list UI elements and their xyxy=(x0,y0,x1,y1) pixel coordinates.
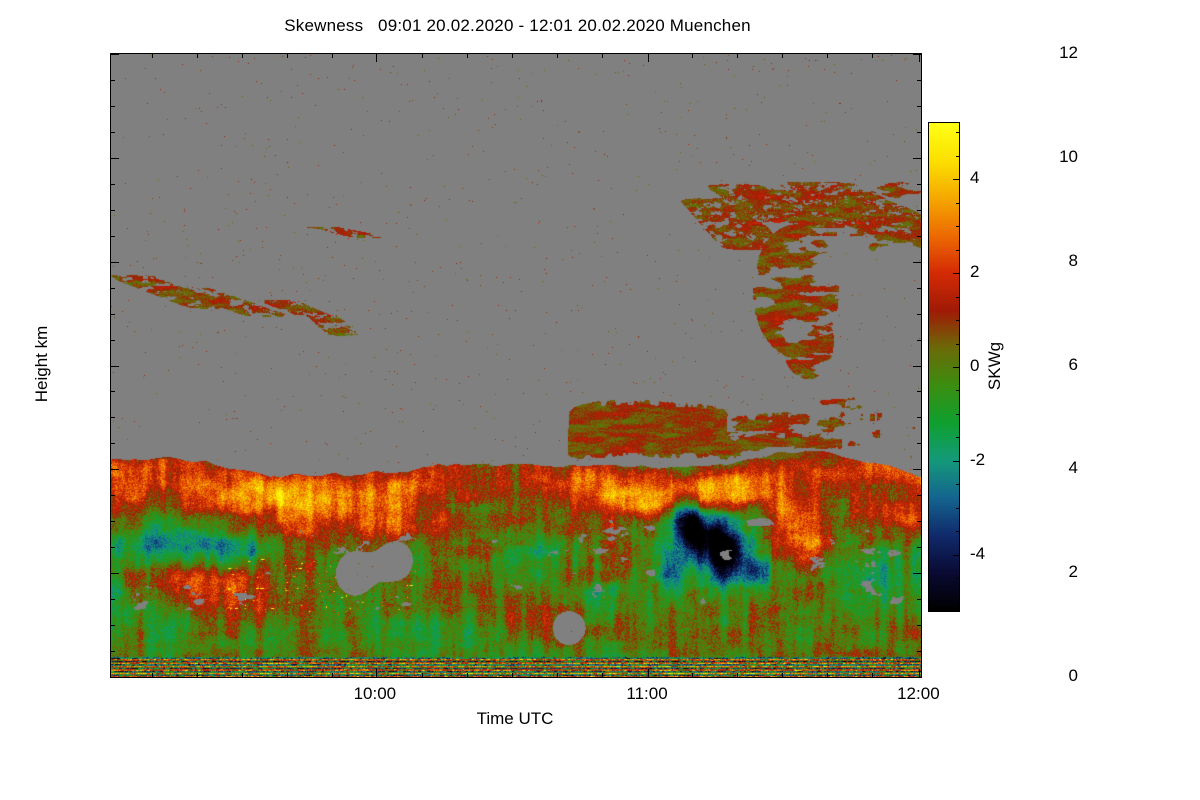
x-axis-minor-tick xyxy=(692,673,693,678)
y-axis-major-tick xyxy=(110,262,119,263)
x-axis-minor-tick xyxy=(287,673,288,678)
y-axis-minor-tick xyxy=(110,132,115,133)
y-axis-minor-tick xyxy=(917,521,922,522)
y-axis-title: Height km xyxy=(32,326,52,403)
x-axis-minor-tick xyxy=(197,53,198,58)
x-axis-minor-tick xyxy=(872,673,873,678)
y-axis-minor-tick xyxy=(917,184,922,185)
x-axis-minor-tick xyxy=(332,53,333,58)
colorbar-tick-label: -4 xyxy=(970,544,985,564)
colorbar-minor-tick xyxy=(956,390,960,391)
x-axis-minor-tick xyxy=(557,53,558,58)
colorbar-minor-tick xyxy=(956,297,960,298)
skewness-plot-page: Skewness 09:01 20.02.2020 - 12:01 20.02.… xyxy=(0,0,1200,800)
y-axis-minor-tick xyxy=(917,236,922,237)
y-axis-tick-label: 8 xyxy=(1069,251,1078,271)
y-axis-minor-tick xyxy=(917,132,922,133)
x-axis-major-tick xyxy=(376,669,377,678)
x-axis-minor-tick xyxy=(332,673,333,678)
x-axis-major-tick xyxy=(648,53,649,62)
x-axis-minor-tick xyxy=(467,53,468,58)
x-axis-minor-tick xyxy=(512,673,513,678)
colorbar-minor-tick xyxy=(956,484,960,485)
y-axis-major-tick xyxy=(913,469,922,470)
x-axis-minor-tick xyxy=(737,673,738,678)
plot-area xyxy=(110,53,922,678)
y-axis-minor-tick xyxy=(110,236,115,237)
y-axis-minor-tick xyxy=(110,80,115,81)
x-axis-minor-tick xyxy=(872,53,873,58)
x-axis-minor-tick xyxy=(602,53,603,58)
page-title: Skewness 09:01 20.02.2020 - 12:01 20.02.… xyxy=(0,16,1035,36)
y-axis-tick-label: 10 xyxy=(1059,147,1078,167)
y-axis-minor-tick xyxy=(110,106,115,107)
colorbar-major-tick xyxy=(953,179,960,180)
y-axis-minor-tick xyxy=(917,288,922,289)
x-axis-tick-label: 11:00 xyxy=(626,684,667,704)
y-axis-major-tick xyxy=(110,158,119,159)
y-axis-major-tick xyxy=(913,677,922,678)
y-axis-minor-tick xyxy=(917,495,922,496)
y-axis-minor-tick xyxy=(917,340,922,341)
colorbar-minor-tick xyxy=(956,226,960,227)
y-axis-minor-tick xyxy=(110,210,115,211)
x-axis-major-tick xyxy=(919,53,920,62)
y-axis-major-tick xyxy=(110,366,119,367)
x-axis-minor-tick xyxy=(152,53,153,58)
colorbar-major-tick xyxy=(953,273,960,274)
x-axis-major-tick xyxy=(376,53,377,62)
y-axis-minor-tick xyxy=(110,651,115,652)
colorbar-major-tick xyxy=(953,461,960,462)
colorbar xyxy=(928,122,960,612)
x-axis-minor-tick xyxy=(557,673,558,678)
colorbar-tick-label: -2 xyxy=(970,450,985,470)
x-axis-title: Time UTC xyxy=(477,709,554,729)
y-axis-major-tick xyxy=(913,366,922,367)
y-axis-minor-tick xyxy=(917,210,922,211)
x-axis-major-tick xyxy=(648,669,649,678)
y-axis-minor-tick xyxy=(917,651,922,652)
y-axis-minor-tick xyxy=(110,391,115,392)
y-axis-minor-tick xyxy=(110,314,115,315)
skewness-heatmap-canvas xyxy=(111,54,921,677)
colorbar-major-tick xyxy=(953,367,960,368)
y-axis-minor-tick xyxy=(110,340,115,341)
x-axis-minor-tick xyxy=(692,53,693,58)
y-axis-minor-tick xyxy=(110,184,115,185)
colorbar-tick-label: 0 xyxy=(970,356,979,376)
colorbar-tick-label: 4 xyxy=(970,168,979,188)
colorbar-minor-tick xyxy=(956,578,960,579)
x-axis-tick-label: 12:00 xyxy=(897,684,940,704)
colorbar-minor-tick xyxy=(956,203,960,204)
y-axis-minor-tick xyxy=(110,599,115,600)
y-axis-tick-label: 4 xyxy=(1069,458,1078,478)
y-axis-minor-tick xyxy=(917,599,922,600)
y-axis-major-tick xyxy=(913,158,922,159)
colorbar-major-tick xyxy=(953,555,960,556)
x-axis-minor-tick xyxy=(242,673,243,678)
y-axis-minor-tick xyxy=(917,625,922,626)
colorbar-minor-tick xyxy=(956,414,960,415)
y-axis-minor-tick xyxy=(917,391,922,392)
colorbar-title: SKWg xyxy=(985,342,1005,390)
y-axis-major-tick xyxy=(913,54,922,55)
y-axis-minor-tick xyxy=(110,288,115,289)
x-axis-minor-tick xyxy=(737,53,738,58)
x-axis-tick-label: 10:00 xyxy=(354,684,397,704)
x-axis-minor-tick xyxy=(782,53,783,58)
y-axis-minor-tick xyxy=(110,417,115,418)
colorbar-minor-tick xyxy=(956,531,960,532)
x-axis-minor-tick xyxy=(422,53,423,58)
x-axis-minor-tick xyxy=(242,53,243,58)
y-axis-major-tick xyxy=(913,573,922,574)
y-axis-minor-tick xyxy=(917,80,922,81)
y-axis-major-tick xyxy=(110,677,119,678)
y-axis-minor-tick xyxy=(917,314,922,315)
y-axis-tick-label: 0 xyxy=(1069,666,1078,686)
y-axis-minor-tick xyxy=(917,417,922,418)
colorbar-minor-tick xyxy=(956,320,960,321)
x-axis-minor-tick xyxy=(827,673,828,678)
x-axis-minor-tick xyxy=(197,673,198,678)
y-axis-tick-label: 6 xyxy=(1069,355,1078,375)
y-axis-tick-label: 2 xyxy=(1069,562,1078,582)
colorbar-tick-label: 2 xyxy=(970,262,979,282)
y-axis-major-tick xyxy=(913,262,922,263)
y-axis-tick-label: 12 xyxy=(1059,43,1078,63)
y-axis-minor-tick xyxy=(917,106,922,107)
x-axis-minor-tick xyxy=(512,53,513,58)
x-axis-minor-tick xyxy=(467,673,468,678)
colorbar-minor-tick xyxy=(956,250,960,251)
colorbar-minor-tick xyxy=(956,344,960,345)
y-axis-major-tick xyxy=(110,54,119,55)
y-axis-minor-tick xyxy=(917,547,922,548)
x-axis-minor-tick xyxy=(827,53,828,58)
colorbar-minor-tick xyxy=(956,508,960,509)
y-axis-major-tick xyxy=(110,573,119,574)
y-axis-minor-tick xyxy=(917,443,922,444)
x-axis-minor-tick xyxy=(422,673,423,678)
y-axis-minor-tick xyxy=(110,521,115,522)
colorbar-minor-tick xyxy=(956,437,960,438)
y-axis-minor-tick xyxy=(110,495,115,496)
y-axis-minor-tick xyxy=(110,443,115,444)
y-axis-minor-tick xyxy=(110,547,115,548)
x-axis-major-tick xyxy=(919,669,920,678)
y-axis-major-tick xyxy=(110,469,119,470)
colorbar-minor-tick xyxy=(956,132,960,133)
x-axis-minor-tick xyxy=(782,673,783,678)
colorbar-minor-tick xyxy=(956,156,960,157)
x-axis-minor-tick xyxy=(152,673,153,678)
x-axis-minor-tick xyxy=(602,673,603,678)
y-axis-minor-tick xyxy=(110,625,115,626)
colorbar-minor-tick xyxy=(956,602,960,603)
x-axis-minor-tick xyxy=(287,53,288,58)
